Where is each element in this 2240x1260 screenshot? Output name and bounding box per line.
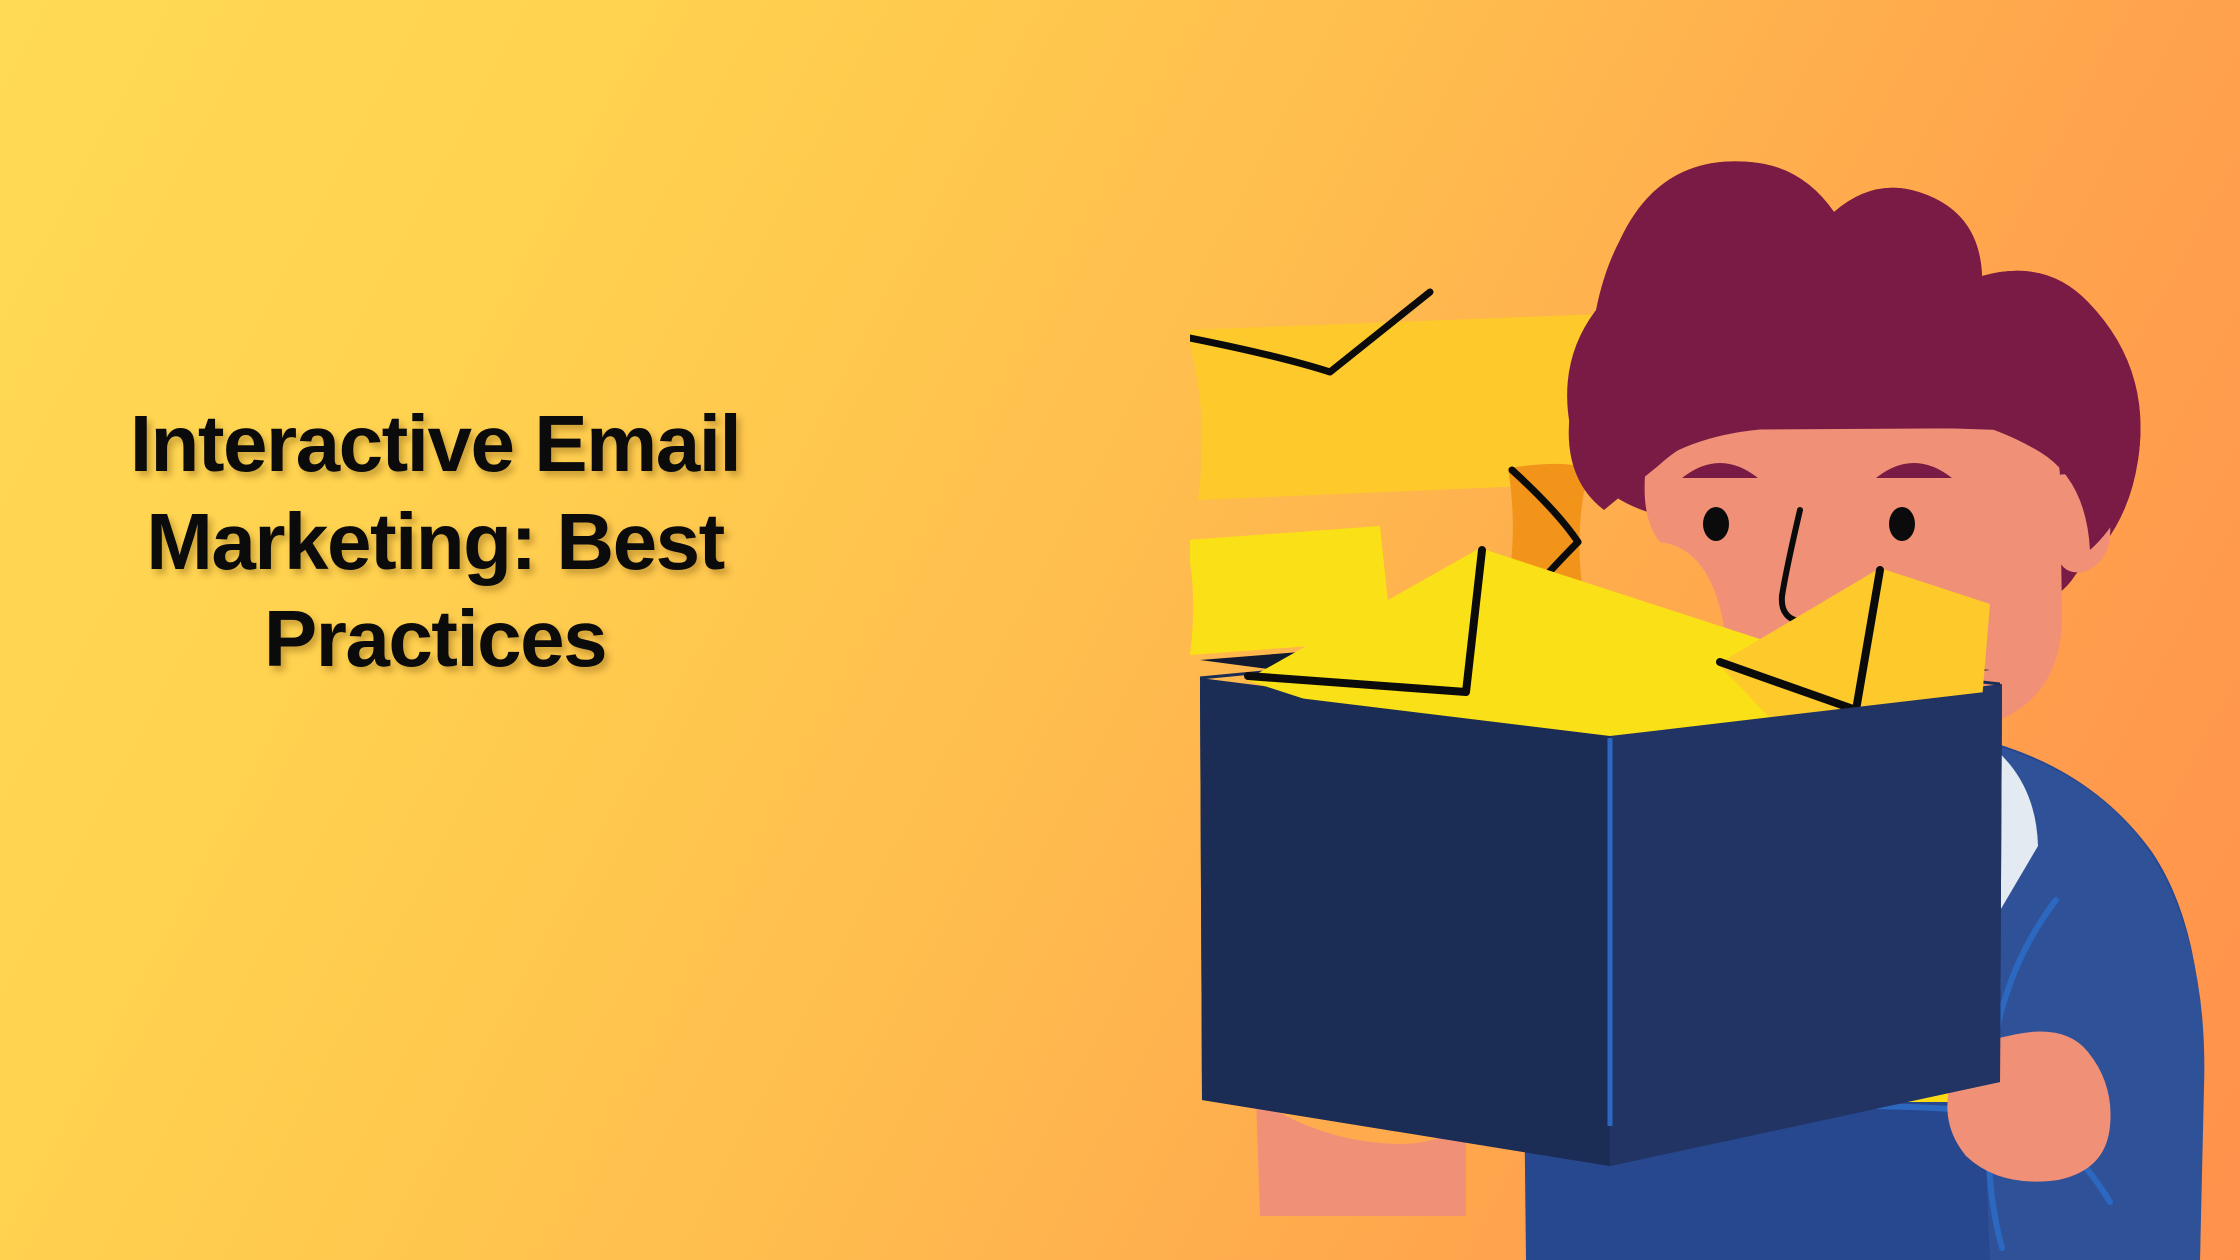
eye-right: [1889, 507, 1915, 541]
banner-canvas: Interactive Email Marketing: Best Practi…: [0, 0, 2240, 1260]
page-title: Interactive Email Marketing: Best Practi…: [90, 395, 780, 688]
hero-illustration: [1190, 80, 2240, 1260]
title-line-3: Practices: [90, 590, 780, 688]
title-line-2: Marketing: Best: [90, 493, 780, 591]
eye-left: [1703, 507, 1729, 541]
title-line-1: Interactive Email: [90, 395, 780, 493]
